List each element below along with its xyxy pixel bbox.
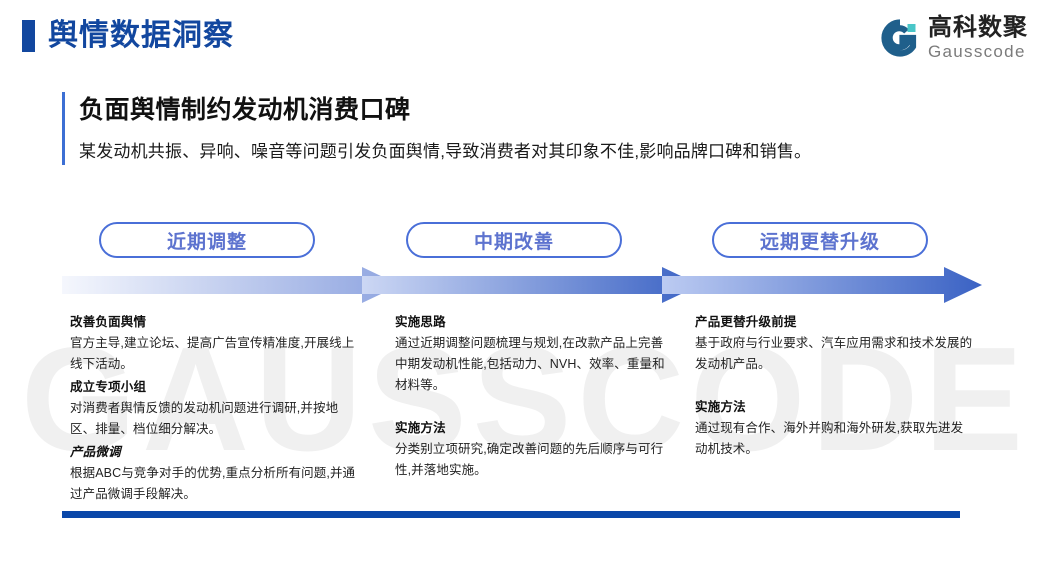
content-block-heading: 产品微调: [70, 442, 360, 463]
content-block-heading: 产品更替升级前提: [695, 312, 975, 333]
brand-logo-text: 高科数聚 Gausscode: [928, 16, 1028, 60]
content-block-body: 对消费者舆情反馈的发动机问题进行调研,并按地区、排量、档位细分解决。: [70, 398, 360, 440]
content-block: 改善负面舆情 官方主导,建立论坛、提高广告宣传精准度,开展线上线下活动。: [70, 312, 360, 375]
brand-name-cn: 高科数聚: [928, 16, 1028, 40]
phase-pill-label: 远期更替升级: [760, 227, 880, 254]
footer-accent-bar: [62, 511, 960, 518]
slide-headline: 负面舆情制约发动机消费口碑: [79, 92, 1009, 128]
phase-pill-near-term[interactable]: 近期调整: [99, 222, 315, 258]
content-block: 实施方法 通过现有合作、海外并购和海外研发,获取先进发动机技术。: [695, 397, 975, 460]
content-block: 成立专项小组 对消费者舆情反馈的发动机问题进行调研,并按地区、排量、档位细分解决…: [70, 377, 360, 440]
gausscode-g-logo-icon: [881, 19, 919, 57]
timeline-arrow-icon: [62, 266, 982, 304]
content-column-near-term: 改善负面舆情 官方主导,建立论坛、提高广告宣传精准度,开展线上线下活动。 成立专…: [70, 312, 360, 507]
content-block-heading: 实施方法: [695, 397, 975, 418]
content-block-heading: 实施思路: [395, 312, 670, 333]
content-block: 产品更替升级前提 基于政府与行业要求、汽车应用需求和技术发展的发动机产品。: [695, 312, 975, 375]
phase-pill-mid-term[interactable]: 中期改善: [406, 222, 622, 258]
content-block-body: 基于政府与行业要求、汽车应用需求和技术发展的发动机产品。: [695, 333, 975, 375]
header-accent-bar-icon: [22, 20, 35, 52]
content-block-heading: 实施方法: [395, 418, 670, 439]
content-block: 实施方法 分类别立项研究,确定改善问题的先后顺序与可行性,并落地实施。: [395, 418, 670, 481]
content-column-mid-term: 实施思路 通过近期调整问题梳理与规划,在改款产品上完善中期发动机性能,包括动力、…: [395, 312, 670, 483]
content-block-body: 根据ABC与竞争对手的优势,重点分析所有问题,并通过产品微调手段解决。: [70, 463, 360, 505]
content-block-body: 通过近期调整问题梳理与规划,在改款产品上完善中期发动机性能,包括动力、NVH、效…: [395, 333, 670, 396]
phase-pill-long-term[interactable]: 远期更替升级: [712, 222, 928, 258]
content-column-long-term: 产品更替升级前提 基于政府与行业要求、汽车应用需求和技术发展的发动机产品。 实施…: [695, 312, 975, 462]
slide-subheadline: 某发动机共振、异响、噪音等问题引发负面舆情,导致消费者对其印象不佳,影响品牌口碑…: [79, 139, 1009, 165]
content-block-body: 分类别立项研究,确定改善问题的先后顺序与可行性,并落地实施。: [395, 439, 670, 481]
title-block: 负面舆情制约发动机消费口碑 某发动机共振、异响、噪音等问题引发负面舆情,导致消费…: [62, 92, 1009, 165]
brand-name-en: Gausscode: [928, 43, 1028, 60]
content-block-body: 官方主导,建立论坛、提高广告宣传精准度,开展线上线下活动。: [70, 333, 360, 375]
phase-pill-label: 中期改善: [474, 227, 554, 254]
content-block: 产品微调 根据ABC与竞争对手的优势,重点分析所有问题,并通过产品微调手段解决。: [70, 442, 360, 505]
content-block-body: 通过现有合作、海外并购和海外研发,获取先进发动机技术。: [695, 418, 975, 460]
content-block-heading: 成立专项小组: [70, 377, 360, 398]
content-columns: 改善负面舆情 官方主导,建立论坛、提高广告宣传精准度,开展线上线下活动。 成立专…: [0, 312, 1050, 502]
page-header: 舆情数据洞察 高科数聚 Gausscode: [0, 0, 1050, 76]
content-block-heading: 改善负面舆情: [70, 312, 360, 333]
phase-pill-label: 近期调整: [167, 227, 247, 254]
brand-logo: 高科数聚 Gausscode: [881, 14, 1028, 62]
content-block: 实施思路 通过近期调整问题梳理与规划,在改款产品上完善中期发动机性能,包括动力、…: [395, 312, 670, 396]
page-title: 舆情数据洞察: [48, 15, 234, 57]
phase-pill-row: 近期调整 中期改善 远期更替升级: [0, 222, 1050, 256]
